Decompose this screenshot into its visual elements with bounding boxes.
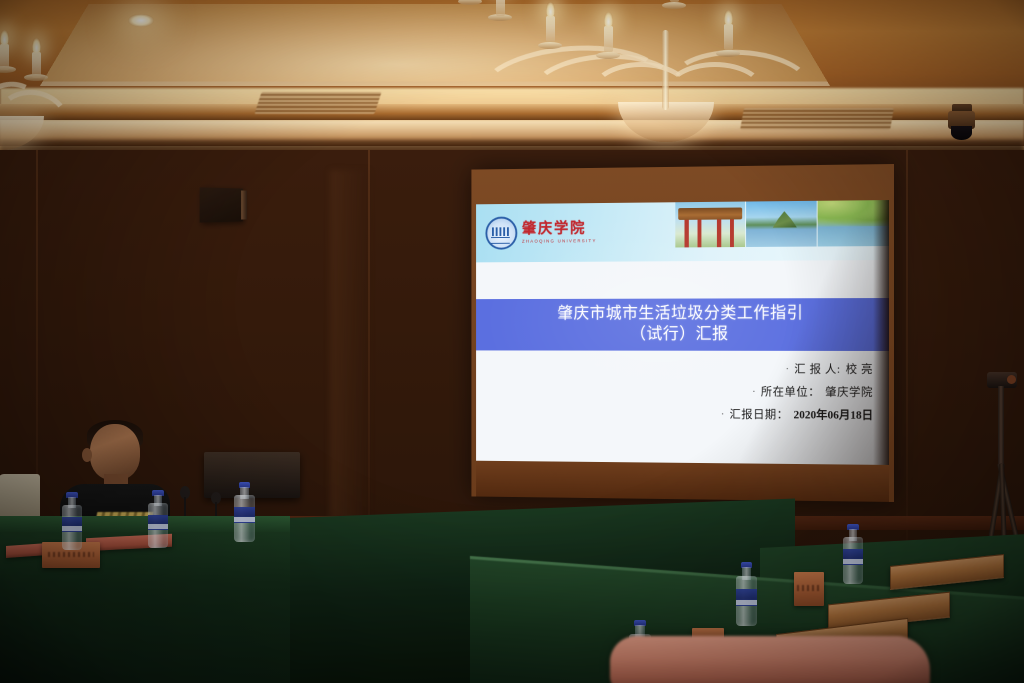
bullet-value: 2020年06月18日 (794, 407, 874, 423)
water-bottle (234, 482, 255, 542)
presentation-slide: 肇庆学院 ZHAOQING UNIVERSITY 肇庆市城市生活垃圾分类工作指引… (476, 200, 889, 465)
camera-dome-lens (951, 126, 972, 140)
bottle-body (843, 537, 863, 584)
slide-banner: 肇庆学院 ZHAOQING UNIVERSITY (476, 200, 889, 262)
karst-mountain-photo (746, 201, 817, 247)
wall-corner-highlight (330, 170, 370, 520)
bottle-label (736, 589, 757, 606)
slide-spacer (476, 260, 889, 299)
chandelier-bobeche (596, 52, 620, 59)
water-bottle (148, 490, 168, 548)
slide-bullet-date: · 汇报日期： 2020年06月18日 (721, 406, 873, 423)
screen-bottom-border (476, 462, 889, 502)
bullet-marker-icon: · (721, 409, 725, 419)
bullet-label: 汇报日期： (730, 406, 789, 422)
bullet-marker-icon: · (786, 364, 790, 374)
wall-mounted-speaker (200, 187, 243, 222)
ceiling-dome-camera (944, 104, 978, 148)
slide-bullet-presenter: · 汇 报 人: 校 亮 (786, 361, 873, 377)
bullet-value: 校 亮 (846, 361, 873, 377)
bullet-label: 汇 报 人: (794, 361, 840, 377)
wall-panel-seam (906, 150, 908, 570)
slide-title: 肇庆市城市生活垃圾分类工作指引 （试行）汇报 (476, 298, 889, 351)
banner-photo-strip (675, 200, 889, 247)
slide-title-line-1: 肇庆市城市生活垃圾分类工作指引 (557, 303, 803, 322)
bottle-label (62, 517, 82, 532)
water-bottle (736, 562, 757, 626)
slide-bullet-organization: · 所在单位： 肇庆学院 (752, 384, 873, 400)
chandelier-bobeche (538, 42, 562, 49)
pink-cloth-bag (610, 636, 930, 683)
chandelier-flame (32, 38, 41, 53)
ceiling-air-vent (254, 92, 381, 114)
chandelier-bobeche (716, 50, 740, 57)
chandelier-bobeche (662, 2, 686, 9)
chandelier-center (430, 0, 770, 170)
slide-title-line-2: （试行）汇报 (484, 323, 881, 344)
bottle-body (736, 576, 757, 626)
name-card-text (797, 585, 821, 591)
projection-screen: 肇庆学院 ZHAOQING UNIVERSITY 肇庆市城市生活垃圾分类工作指引… (471, 164, 894, 502)
chandelier-flame (604, 12, 613, 27)
conference-room-photo: 肇庆学院 ZHAOQING UNIVERSITY 肇庆市城市生活垃圾分类工作指引… (0, 0, 1024, 683)
chandelier-candle (670, 0, 679, 2)
bullet-label: 所在单位： (761, 384, 820, 400)
bottle-label (843, 549, 863, 565)
water-bottle (843, 524, 863, 584)
bottle-label (148, 515, 168, 530)
university-logo: 肇庆学院 ZHAOQING UNIVERSITY (476, 216, 597, 250)
university-seal-icon (485, 217, 517, 250)
bullet-marker-icon: · (752, 387, 756, 397)
camera-tripod (975, 372, 1024, 552)
chandelier-candle (0, 44, 9, 70)
willow-lakeside-photo (818, 200, 889, 246)
logo-english-name: ZHAOQING UNIVERSITY (522, 238, 597, 243)
bottle-label (234, 507, 255, 523)
chandelier-flame (724, 10, 733, 25)
paifang-archway-photo (675, 202, 745, 248)
water-bottle (62, 492, 82, 550)
chandelier-flame (0, 30, 9, 45)
logo-chinese-name: 肇庆学院 (522, 222, 597, 237)
chandelier-candle (32, 52, 41, 78)
recessed-downlight (128, 14, 154, 27)
attendee-ear (82, 448, 92, 462)
name-card (794, 572, 824, 606)
projected-slide-surface: 肇庆学院 ZHAOQING UNIVERSITY 肇庆市城市生活垃圾分类工作指引… (476, 200, 889, 465)
slide-bullet-list: · 汇 报 人: 校 亮 · 所在单位： 肇庆学院 · 汇报日期： 2020年0… (476, 351, 889, 465)
tripod-center-column (998, 386, 1004, 468)
chandelier-candle (496, 0, 505, 16)
name-card-text (48, 552, 94, 557)
bullet-value: 肇庆学院 (825, 384, 873, 400)
bottle-body (148, 503, 168, 548)
bottle-body (234, 495, 255, 542)
chandelier-candle (724, 24, 733, 50)
tripod-knob (1007, 375, 1016, 384)
chandelier-bobeche (458, 0, 482, 5)
attendee-head (90, 424, 140, 480)
chandelier-left (0, 30, 100, 170)
chandelier-candle (604, 26, 613, 52)
chandelier-flame (546, 2, 555, 17)
chandelier-candle (546, 16, 555, 42)
bottle-body (62, 505, 82, 550)
